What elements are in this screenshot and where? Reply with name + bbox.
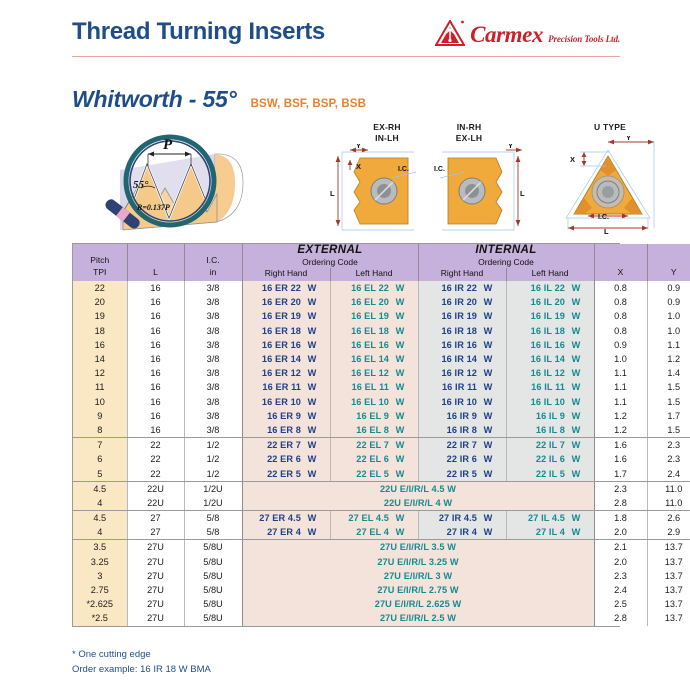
cell-l: 16: [127, 423, 184, 438]
cell-internal-rh-text: 16 IR 14: [425, 354, 477, 364]
insert-label-in-rh-line1: IN-RH: [432, 122, 506, 133]
table-body: 22163/816 ER 22W16 EL 22W16 IR 22W16 IL …: [73, 281, 690, 626]
cell-internal-rh-suffix: W: [477, 411, 499, 421]
cell-external-lh: 16 EL 11W: [330, 380, 418, 394]
cell-pitch: 5: [73, 466, 127, 481]
cell-internal-rh-text: 16 IR 12: [425, 368, 477, 378]
cell-internal-rh-suffix: W: [477, 368, 499, 378]
cell-ic: 1/2U: [184, 496, 242, 511]
cell-internal-rh-suffix: W: [477, 354, 499, 364]
illustration-band: P 55° R=0.137P EX-RH IN-LH: [60, 120, 680, 240]
cell-internal-lh: 16 IL 14W: [506, 352, 594, 366]
cell-y: 13.7: [647, 597, 690, 611]
cell-external-rh: 27 ER 4.5W: [242, 511, 330, 526]
cell-pitch: 3.25: [73, 555, 127, 569]
cell-pitch: 7: [73, 438, 127, 453]
cell-external-rh-text: 16 ER 22: [249, 283, 301, 293]
cell-ic: 3/8: [184, 395, 242, 409]
cell-external-rh-text: 16 ER 12: [249, 368, 301, 378]
cell-internal-lh-suffix: W: [565, 283, 587, 293]
cell-l: 16: [127, 380, 184, 394]
cell-ic: 1/2: [184, 466, 242, 481]
cell-internal-lh-text: 16 IL 12: [513, 368, 565, 378]
cell-external-lh-text: 16 EL 9: [337, 411, 389, 421]
cell-internal-lh: 22 IL 7W: [506, 438, 594, 453]
cell-x: 1.6: [594, 452, 647, 466]
cell-internal-rh: 16 IR 10W: [418, 395, 506, 409]
cell-internal-rh: 16 IR 19W: [418, 309, 506, 323]
svg-text:Y: Y: [356, 144, 361, 150]
cell-external-rh: 22 ER 7W: [242, 438, 330, 453]
col-header-internal-ordering: Ordering Code: [418, 257, 594, 268]
table-row: 16163/816 ER 16W16 EL 16W16 IR 16W16 IL …: [73, 338, 690, 352]
cell-internal-lh-suffix: W: [565, 454, 587, 464]
cell-internal-lh-suffix: W: [565, 527, 587, 537]
cell-internal-lh-text: 16 IL 11: [513, 382, 565, 392]
cell-internal-rh-suffix: W: [477, 283, 499, 293]
cell-l: 16: [127, 309, 184, 323]
cell-external-lh: 16 EL 20W: [330, 295, 418, 309]
ordering-code-merged-text: 27U E/I/R/L 2.625 W: [375, 599, 462, 609]
cell-x: 0.8: [594, 324, 647, 338]
table-row: 14163/816 ER 14W16 EL 14W16 IR 14W16 IL …: [73, 352, 690, 366]
cell-y: 1.4: [647, 366, 690, 380]
cell-ic: 5/8U: [184, 555, 242, 569]
cell-y: 1.0: [647, 309, 690, 323]
cell-x: 1.1: [594, 366, 647, 380]
cell-l: 16: [127, 409, 184, 423]
col-header-ic: I.C. in: [184, 244, 242, 281]
cell-internal-lh-text: 16 IL 20: [513, 297, 565, 307]
col-header-y: Y: [647, 244, 690, 281]
cell-external-lh-text: 16 EL 8: [337, 425, 389, 435]
cell-external-rh: 16 ER 14W: [242, 352, 330, 366]
cell-external-lh-suffix: W: [389, 283, 411, 293]
ordering-code-merged-text: 22U E/I/R/L 4.5 W: [380, 484, 456, 494]
cell-external-lh-suffix: W: [389, 454, 411, 464]
cell-ic: 1/2: [184, 438, 242, 453]
footnote-order-example: Order example: 16 IR 18 W BMA: [72, 663, 211, 678]
cell-x: 0.8: [594, 295, 647, 309]
cell-external-rh: 16 ER 16W: [242, 338, 330, 352]
cell-x: 2.3: [594, 481, 647, 496]
cell-external-rh-suffix: W: [301, 397, 323, 407]
cell-external-lh-suffix: W: [389, 297, 411, 307]
svg-text:P: P: [163, 137, 173, 153]
col-header-internal-lh: Left Hand: [506, 268, 594, 281]
cell-external-lh: 22 EL 6W: [330, 452, 418, 466]
cell-internal-lh-suffix: W: [565, 311, 587, 321]
cell-pitch: 10: [73, 395, 127, 409]
col-header-internal: INTERNAL: [418, 244, 594, 257]
cell-internal-rh: 22 IR 7W: [418, 438, 506, 453]
cell-internal-lh-suffix: W: [565, 425, 587, 435]
cell-external-lh: 16 EL 18W: [330, 324, 418, 338]
col-header-ic-line1: I.C.: [185, 255, 242, 266]
cell-l: 16: [127, 324, 184, 338]
cell-y: 11.0: [647, 496, 690, 511]
cell-internal-lh: 16 IL 8W: [506, 423, 594, 438]
cell-internal-rh-text: 16 IR 20: [425, 297, 477, 307]
cell-internal-lh-text: 16 IL 14: [513, 354, 565, 364]
cell-ordering-code-merged: 27U E/I/R/L 3.5 W: [242, 540, 594, 555]
cell-external-rh-text: 16 ER 20: [249, 297, 301, 307]
table-row: 12163/816 ER 12W16 EL 12W16 IR 12W16 IL …: [73, 366, 690, 380]
table-footnotes: * One cutting edge Order example: 16 IR …: [72, 648, 211, 677]
insert-label-ex-rh-line2: IN-LH: [350, 133, 424, 144]
cell-internal-rh-suffix: W: [477, 340, 499, 350]
cell-internal-lh: 22 IL 6W: [506, 452, 594, 466]
cell-x: 2.3: [594, 569, 647, 583]
cell-external-lh-suffix: W: [389, 440, 411, 450]
col-header-external-lh: Left Hand: [330, 268, 418, 281]
cell-external-lh-suffix: W: [389, 326, 411, 336]
cell-l: 27U: [127, 611, 184, 625]
cell-pitch: 16: [73, 338, 127, 352]
cell-l: 27U: [127, 597, 184, 611]
cell-internal-rh-text: 27 IR 4.5: [425, 513, 477, 523]
cell-l: 22U: [127, 481, 184, 496]
cell-internal-rh-suffix: W: [477, 382, 499, 392]
cell-pitch: 20: [73, 295, 127, 309]
cell-internal-lh-suffix: W: [565, 382, 587, 392]
cell-external-rh-suffix: W: [301, 513, 323, 523]
cell-ic: 3/8: [184, 281, 242, 295]
cell-external-rh-suffix: W: [301, 425, 323, 435]
cell-external-rh-text: 22 ER 5: [249, 469, 301, 479]
cell-ic: 3/8: [184, 409, 242, 423]
table-row: 20163/816 ER 20W16 EL 20W16 IR 20W16 IL …: [73, 295, 690, 309]
cell-internal-lh-text: 22 IL 5: [513, 469, 565, 479]
cell-internal-lh: 16 IL 19W: [506, 309, 594, 323]
cell-pitch: 3.5: [73, 540, 127, 555]
cell-internal-lh-suffix: W: [565, 397, 587, 407]
page-title: Thread Turning Inserts: [72, 18, 325, 46]
cell-pitch: 3: [73, 569, 127, 583]
cell-internal-lh: 16 IL 22W: [506, 281, 594, 295]
cell-external-lh-text: 22 EL 6: [337, 454, 389, 464]
svg-text:L: L: [330, 189, 335, 198]
cell-pitch: *2.625: [73, 597, 127, 611]
cell-internal-rh-suffix: W: [477, 397, 499, 407]
cell-y: 1.5: [647, 380, 690, 394]
insert-label-ex-rh-line1: EX-RH: [350, 122, 424, 133]
cell-external-rh-text: 16 ER 14: [249, 354, 301, 364]
table-row: 19163/816 ER 19W16 EL 19W16 IR 19W16 IL …: [73, 309, 690, 323]
cell-ic: 3/8: [184, 380, 242, 394]
cell-x: 1.2: [594, 409, 647, 423]
cell-internal-lh-suffix: W: [565, 411, 587, 421]
cell-y: 2.3: [647, 438, 690, 453]
cell-external-lh-suffix: W: [389, 411, 411, 421]
page-header: Thread Turning Inserts Carmex Precision …: [72, 18, 620, 64]
cell-external-lh-suffix: W: [389, 513, 411, 523]
cell-y: 2.6: [647, 511, 690, 526]
carmex-logo-icon: [435, 20, 465, 46]
cell-l: 27U: [127, 583, 184, 597]
insert-diagram-u-type: U TYPE: [550, 122, 670, 238]
inserts-table-grid: Pitch TPI L I.C. in EXTERNAL INTERNAL X …: [73, 244, 690, 626]
cell-l: 27U: [127, 569, 184, 583]
cell-external-rh-suffix: W: [301, 368, 323, 378]
cell-pitch: 6: [73, 452, 127, 466]
cell-external-lh: 16 EL 8W: [330, 423, 418, 438]
cell-internal-lh-text: 16 IL 16: [513, 340, 565, 350]
cell-y: 13.7: [647, 540, 690, 555]
cell-external-lh-suffix: W: [389, 382, 411, 392]
cell-internal-lh-text: 16 IL 18: [513, 326, 565, 336]
inserts-table: Pitch TPI L I.C. in EXTERNAL INTERNAL X …: [72, 243, 620, 627]
cell-ic: 5/8U: [184, 583, 242, 597]
brand-tagline: Precision Tools Ltd.: [548, 35, 620, 46]
cell-y: 13.7: [647, 611, 690, 625]
cell-internal-rh-suffix: W: [477, 527, 499, 537]
col-header-internal-rh: Right Hand: [418, 268, 506, 281]
cell-pitch: 8: [73, 423, 127, 438]
col-header-ic-line2: in: [185, 267, 242, 278]
svg-text:X: X: [570, 155, 575, 164]
cell-external-rh-suffix: W: [301, 527, 323, 537]
cell-external-rh-suffix: W: [301, 354, 323, 364]
table-row: 8163/816 ER 8W16 EL 8W16 IR 8W16 IL 8W1.…: [73, 423, 690, 438]
cell-external-rh: 27 ER 4W: [242, 525, 330, 540]
cell-internal-rh-text: 27 IR 4: [425, 527, 477, 537]
table-row: 22163/816 ER 22W16 EL 22W16 IR 22W16 IL …: [73, 281, 690, 295]
cell-external-rh: 22 ER 6W: [242, 452, 330, 466]
cell-external-lh-suffix: W: [389, 469, 411, 479]
cell-internal-lh-text: 16 IL 8: [513, 425, 565, 435]
cell-external-lh-text: 27 EL 4.5: [337, 513, 389, 523]
svg-text:R=0.137P: R=0.137P: [136, 203, 170, 212]
cell-x: 2.5: [594, 597, 647, 611]
cell-internal-rh: 16 IR 22W: [418, 281, 506, 295]
col-header-pitch-line2: TPI: [73, 267, 127, 278]
cell-internal-rh-suffix: W: [477, 425, 499, 435]
cell-y: 1.5: [647, 395, 690, 409]
header-divider: [72, 56, 620, 57]
cell-ic: 5/8U: [184, 540, 242, 555]
cell-l: 16: [127, 295, 184, 309]
cell-internal-lh: 27 IL 4W: [506, 525, 594, 540]
cell-y: 1.1: [647, 338, 690, 352]
cell-external-rh-text: 16 ER 10: [249, 397, 301, 407]
insert-diagram-in-rh: IN-RH EX-LH L Y I.C.: [432, 122, 528, 238]
cell-ic: 3/8: [184, 366, 242, 380]
cell-external-rh: 16 ER 9W: [242, 409, 330, 423]
cell-internal-lh: 16 IL 10W: [506, 395, 594, 409]
cell-external-lh-suffix: W: [389, 397, 411, 407]
cell-ic: 3/8: [184, 423, 242, 438]
cell-external-rh: 16 ER 10W: [242, 395, 330, 409]
cell-ic: 5/8U: [184, 597, 242, 611]
cell-internal-rh: 27 IR 4.5W: [418, 511, 506, 526]
cell-internal-lh: 16 IL 9W: [506, 409, 594, 423]
carmex-logo: Carmex Precision Tools Ltd.: [435, 20, 620, 46]
cell-external-lh-text: 16 EL 12: [337, 368, 389, 378]
cell-external-rh-suffix: W: [301, 297, 323, 307]
cell-external-lh: 16 EL 14W: [330, 352, 418, 366]
cell-external-lh: 16 EL 22W: [330, 281, 418, 295]
table-row: *2.62527U5/8U27U E/I/R/L 2.625 W2.513.7: [73, 597, 690, 611]
cell-ic: 3/8: [184, 295, 242, 309]
cell-external-lh-suffix: W: [389, 425, 411, 435]
table-row: 9163/816 ER 9W16 EL 9W16 IR 9W16 IL 9W1.…: [73, 409, 690, 423]
cell-l: 16: [127, 338, 184, 352]
table-row: 5221/222 ER 5W22 EL 5W22 IR 5W22 IL 5W1.…: [73, 466, 690, 481]
cell-internal-rh-text: 16 IR 10: [425, 397, 477, 407]
table-header: Pitch TPI L I.C. in EXTERNAL INTERNAL X …: [73, 244, 690, 281]
cell-x: 1.0: [594, 352, 647, 366]
cell-internal-rh-suffix: W: [477, 454, 499, 464]
cell-x: 2.0: [594, 555, 647, 569]
cell-internal-rh: 22 IR 5W: [418, 466, 506, 481]
cell-internal-lh: 27 IL 4.5W: [506, 511, 594, 526]
cell-x: 2.0: [594, 525, 647, 540]
svg-text:I.C.: I.C.: [598, 214, 609, 221]
cell-external-rh: 16 ER 19W: [242, 309, 330, 323]
cell-external-lh: 22 EL 7W: [330, 438, 418, 453]
cell-internal-rh: 16 IR 12W: [418, 366, 506, 380]
cell-external-rh: 16 ER 8W: [242, 423, 330, 438]
cell-internal-rh-text: 16 IR 22: [425, 283, 477, 293]
cell-internal-lh-text: 27 IL 4.5: [513, 513, 565, 523]
table-row: 10163/816 ER 10W16 EL 10W16 IR 10W16 IL …: [73, 395, 690, 409]
cell-internal-lh-text: 16 IL 22: [513, 283, 565, 293]
cell-internal-rh-text: 16 IR 19: [425, 311, 477, 321]
cell-external-rh: 16 ER 12W: [242, 366, 330, 380]
footnote-one-cutting-edge: * One cutting edge: [72, 648, 211, 663]
cell-pitch: 22: [73, 281, 127, 295]
cell-internal-lh-text: 16 IL 9: [513, 411, 565, 421]
cell-internal-rh: 16 IR 20W: [418, 295, 506, 309]
cell-external-rh-text: 16 ER 16: [249, 340, 301, 350]
cell-external-lh-suffix: W: [389, 368, 411, 378]
cell-l: 22: [127, 438, 184, 453]
cell-internal-rh-text: 22 IR 6: [425, 454, 477, 464]
svg-text:X: X: [356, 162, 361, 171]
ordering-code-merged-text: 27U E/I/R/L 2.5 W: [380, 613, 456, 623]
cell-y: 11.0: [647, 481, 690, 496]
cell-x: 2.4: [594, 583, 647, 597]
cell-y: 13.7: [647, 569, 690, 583]
cell-external-rh-suffix: W: [301, 469, 323, 479]
cell-external-lh-text: 16 EL 19: [337, 311, 389, 321]
cell-pitch: 4.5: [73, 481, 127, 496]
cell-external-rh: 22 ER 5W: [242, 466, 330, 481]
svg-text:I.C.: I.C.: [434, 166, 445, 173]
cell-external-lh: 16 EL 16W: [330, 338, 418, 352]
cell-external-lh-suffix: W: [389, 311, 411, 321]
table-row: 7221/222 ER 7W22 EL 7W22 IR 7W22 IL 7W1.…: [73, 438, 690, 453]
cell-external-lh-text: 16 EL 14: [337, 354, 389, 364]
thread-standard-codes: BSW, BSF, BSP, BSB: [251, 98, 366, 110]
cell-y: 2.3: [647, 452, 690, 466]
cell-pitch: 11: [73, 380, 127, 394]
cell-internal-lh-text: 16 IL 10: [513, 397, 565, 407]
cell-external-rh-suffix: W: [301, 283, 323, 293]
cell-internal-lh-suffix: W: [565, 368, 587, 378]
cell-ic: 1/2U: [184, 481, 242, 496]
ordering-code-merged-text: 27U E/I/R/L 3.25 W: [377, 557, 458, 567]
cell-external-lh-text: 22 EL 5: [337, 469, 389, 479]
cell-l: 16: [127, 395, 184, 409]
cell-y: 0.9: [647, 281, 690, 295]
cell-internal-rh: 16 IR 16W: [418, 338, 506, 352]
cell-ic: 3/8: [184, 338, 242, 352]
cell-internal-rh: 16 IR 9W: [418, 409, 506, 423]
cell-internal-lh: 16 IL 11W: [506, 380, 594, 394]
cell-x: 1.7: [594, 466, 647, 481]
cell-pitch: 19: [73, 309, 127, 323]
cell-x: 1.1: [594, 380, 647, 394]
col-header-x: X: [594, 244, 647, 281]
cell-ordering-code-merged: 27U E/I/R/L 2.5 W: [242, 611, 594, 625]
cell-l: 27: [127, 511, 184, 526]
cell-ic: 1/2: [184, 452, 242, 466]
cell-internal-lh-text: 22 IL 7: [513, 440, 565, 450]
cell-x: 2.1: [594, 540, 647, 555]
cell-internal-rh-text: 22 IR 5: [425, 469, 477, 479]
cell-internal-lh: 16 IL 18W: [506, 324, 594, 338]
cell-l: 16: [127, 352, 184, 366]
table-row: 3.2527U5/8U27U E/I/R/L 3.25 W2.013.7: [73, 555, 690, 569]
cell-external-lh: 16 EL 12W: [330, 366, 418, 380]
cell-ordering-code-merged: 22U E/I/R/L 4 W: [242, 496, 594, 511]
cell-external-rh-text: 16 ER 19: [249, 311, 301, 321]
cell-internal-lh: 22 IL 5W: [506, 466, 594, 481]
cell-y: 2.4: [647, 466, 690, 481]
cell-internal-rh-suffix: W: [477, 469, 499, 479]
insert-diagram-ex-rh: EX-RH IN-LH: [328, 122, 424, 238]
cell-pitch: 4.5: [73, 511, 127, 526]
svg-text:Y: Y: [626, 136, 631, 142]
cell-y: 13.7: [647, 555, 690, 569]
table-row: 422U1/2U22U E/I/R/L 4 W2.811.0: [73, 496, 690, 511]
cell-external-rh-suffix: W: [301, 382, 323, 392]
cell-x: 2.8: [594, 496, 647, 511]
cell-ordering-code-merged: 22U E/I/R/L 4.5 W: [242, 481, 594, 496]
cell-y: 1.2: [647, 352, 690, 366]
cell-external-rh: 16 ER 20W: [242, 295, 330, 309]
cell-external-rh-suffix: W: [301, 340, 323, 350]
cell-internal-rh-text: 16 IR 8: [425, 425, 477, 435]
cell-internal-rh-suffix: W: [477, 440, 499, 450]
catalog-page: Thread Turning Inserts Carmex Precision …: [0, 0, 690, 690]
cell-internal-lh-suffix: W: [565, 326, 587, 336]
insert-label-u-type: U TYPE: [550, 122, 670, 133]
cell-external-rh-text: 27 ER 4: [249, 527, 301, 537]
cell-y: 0.9: [647, 295, 690, 309]
cell-external-lh-text: 16 EL 10: [337, 397, 389, 407]
cell-internal-rh: 16 IR 8W: [418, 423, 506, 438]
cell-external-lh-text: 16 EL 11: [337, 382, 389, 392]
cell-internal-rh-suffix: W: [477, 326, 499, 336]
cell-pitch: 18: [73, 324, 127, 338]
col-header-pitch-line1: Pitch: [73, 255, 127, 266]
cell-internal-lh-text: 22 IL 6: [513, 454, 565, 464]
cell-y: 1.0: [647, 324, 690, 338]
cell-pitch: *2.5: [73, 611, 127, 625]
cell-internal-lh-suffix: W: [565, 513, 587, 523]
cell-ic: 3/8: [184, 309, 242, 323]
cell-internal-lh-text: 27 IL 4: [513, 527, 565, 537]
cell-external-lh: 22 EL 5W: [330, 466, 418, 481]
table-row: 2.7527U5/8U27U E/I/R/L 2.75 W2.413.7: [73, 583, 690, 597]
cell-internal-rh-text: 16 IR 11: [425, 382, 477, 392]
cell-internal-lh: 16 IL 20W: [506, 295, 594, 309]
table-row: 3.527U5/8U27U E/I/R/L 3.5 W2.113.7: [73, 540, 690, 555]
ordering-code-merged-text: 27U E/I/R/L 3.5 W: [380, 542, 456, 552]
